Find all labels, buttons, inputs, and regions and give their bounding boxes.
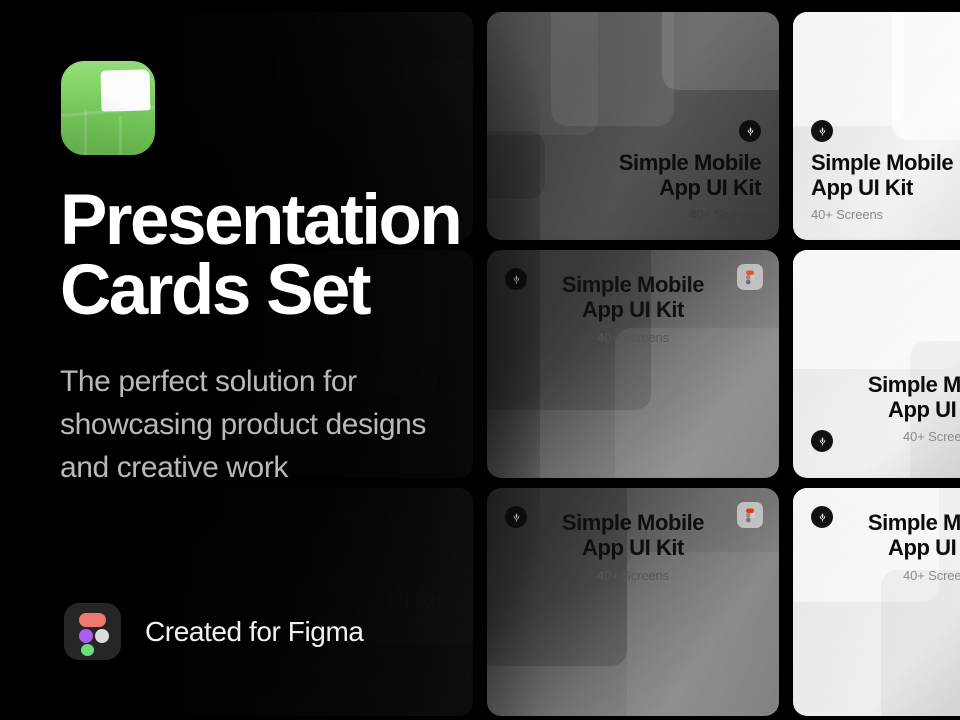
card-text-block: Simple Mobile App UI Kit 40+ Screens	[811, 150, 960, 222]
card-content: Simple Mobile App UI Kit 40+ Screens	[793, 250, 960, 478]
card-subtitle: 40+ Screens	[793, 568, 960, 583]
figma-shape-gray	[95, 629, 109, 643]
page-subtitle-line-1: The perfect solution for	[60, 365, 357, 398]
page-subtitle: The perfect solution for showcasing prod…	[60, 360, 530, 490]
card-content: Simple Mobile App UI Kit 40+ Screens	[793, 12, 960, 240]
figma-shape-top	[79, 613, 106, 627]
presentation-cards-app-icon	[61, 61, 155, 155]
page-title: Presentation Cards Set	[60, 186, 510, 327]
card-title-line-2: App UI Kit	[793, 397, 960, 422]
card-subtitle: 40+ Screens	[811, 207, 960, 222]
card-title-line-2: App UI Kit	[811, 175, 960, 200]
card-content: Simple Mobile App UI Kit 40+ Screens	[793, 488, 960, 716]
icon-shading	[61, 61, 155, 155]
card-subtitle: 40+ Screens	[793, 429, 960, 444]
page-title-line-1: Presentation	[60, 181, 460, 260]
figma-shape-green	[81, 644, 94, 656]
page-subtitle-line-2: showcasing product designs	[60, 408, 426, 441]
figma-logo-icon	[64, 603, 121, 660]
mockup-card[interactable]: Simple Mobile App UI Kit 40+ Screens	[793, 12, 960, 240]
card-title-line-2: App UI Kit	[793, 535, 960, 560]
mockup-card[interactable]: Simple Mobile App UI Kit 40+ Screens	[793, 250, 960, 478]
hero-overlay: Presentation Cards Set The perfect solut…	[0, 0, 540, 720]
mockup-card[interactable]: Simple Mobile App UI Kit 40+ Screens	[793, 488, 960, 716]
figma-shape-purple	[79, 629, 93, 643]
card-subtitle: 40+ Screens	[513, 207, 761, 222]
card-title-line-1: Simple Mobile	[513, 150, 761, 175]
card-text-block: Simple Mobile App UI Kit 40+ Screens	[793, 372, 960, 444]
card-title-line-1: Simple Mobile	[793, 510, 960, 535]
card-text-block: Simple Mobile App UI Kit 40+ Screens	[513, 150, 761, 222]
card-title-line-2: App UI Kit	[513, 175, 761, 200]
leaf-icon	[811, 120, 833, 142]
card-title-line-1: Simple Mobile	[793, 372, 960, 397]
page-subtitle-line-3: and creative work	[60, 451, 288, 484]
card-title-line-1: Simple Mobile	[811, 150, 960, 175]
created-for-figma-row: Created for Figma	[64, 603, 364, 660]
page-title-line-2: Cards Set	[60, 251, 369, 330]
leaf-icon	[739, 120, 761, 142]
figma-label: Created for Figma	[145, 616, 364, 648]
card-text-block: Simple Mobile App UI Kit 40+ Screens	[793, 510, 960, 583]
